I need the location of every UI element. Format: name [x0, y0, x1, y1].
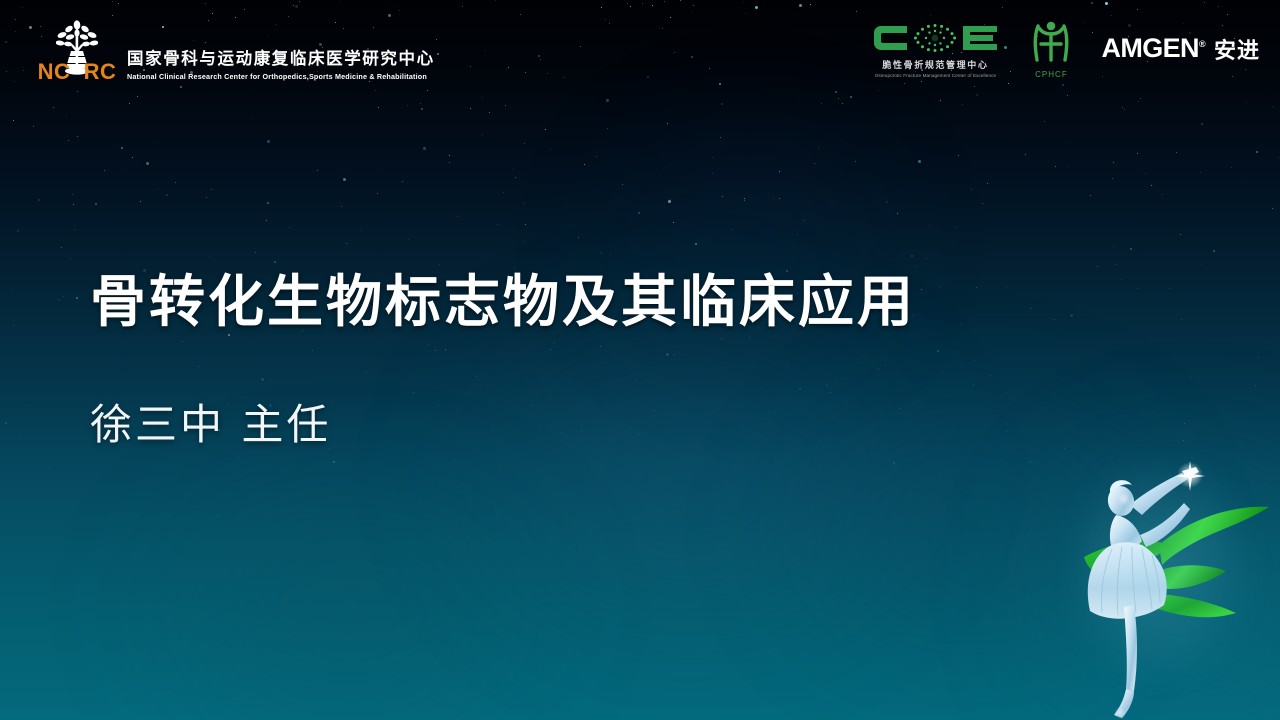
amgen-logo: AMGEN® 安进 [1101, 33, 1260, 67]
amgen-wordmark-text: AMGEN [1101, 33, 1199, 63]
coe-name-cn: 脆性骨折规范管理中心 [869, 58, 1001, 71]
ncrc-acronym-right: RC [84, 59, 117, 84]
ncrc-acronym-left: NC [38, 59, 71, 84]
ncrc-acronym: NC..RC [36, 61, 118, 83]
partner-logo-group: 脆性骨折规范管理中心 Osteoporotic Fracture Managem… [869, 20, 1260, 79]
background-nebula-glow [430, 300, 950, 660]
ncrc-name-en: National Clinical Research Center for Or… [127, 72, 435, 81]
cphcf-logo: CPHCF [1023, 20, 1079, 79]
ncrc-name-block: 国家骨科与运动康复临床医学研究中心 National Clinical Rese… [127, 50, 435, 84]
amgen-name-cn: 安进 [1214, 33, 1260, 65]
coe-name-en: Osteoporotic Fracture Management Center … [869, 73, 1001, 78]
ballerina-glow [1074, 465, 1264, 695]
slide-title: 骨转化生物标志物及其临床应用 [90, 272, 916, 335]
logo-bar: NC..RC 国家骨科与运动康复临床医学研究中心 National Clinic… [0, 0, 1280, 104]
coe-logo: 脆性骨折规范管理中心 Osteoporotic Fracture Managem… [869, 21, 1001, 78]
ncrc-emblem: NC..RC [36, 22, 118, 84]
ncrc-logo: NC..RC 国家骨科与运动康复临床医学研究中心 National Clinic… [36, 22, 435, 84]
registered-trademark-icon: ® [1199, 39, 1205, 49]
human-figure-icon [1028, 20, 1074, 64]
background-nebula-glow [120, 470, 580, 720]
title-slide: NC..RC 国家骨科与运动康复临床医学研究中心 National Clinic… [0, 0, 1280, 720]
coe-acronym-icon [871, 22, 999, 54]
amgen-wordmark: AMGEN® [1101, 33, 1205, 64]
slide-subtitle: 徐三中 主任 [90, 401, 331, 449]
coe-emblem [869, 21, 1001, 55]
ncrc-name-cn: 国家骨科与运动康复临床医学研究中心 [127, 50, 435, 69]
cphcf-acronym: CPHCF [1023, 70, 1079, 79]
crystal-ballerina-figure [1064, 445, 1274, 720]
